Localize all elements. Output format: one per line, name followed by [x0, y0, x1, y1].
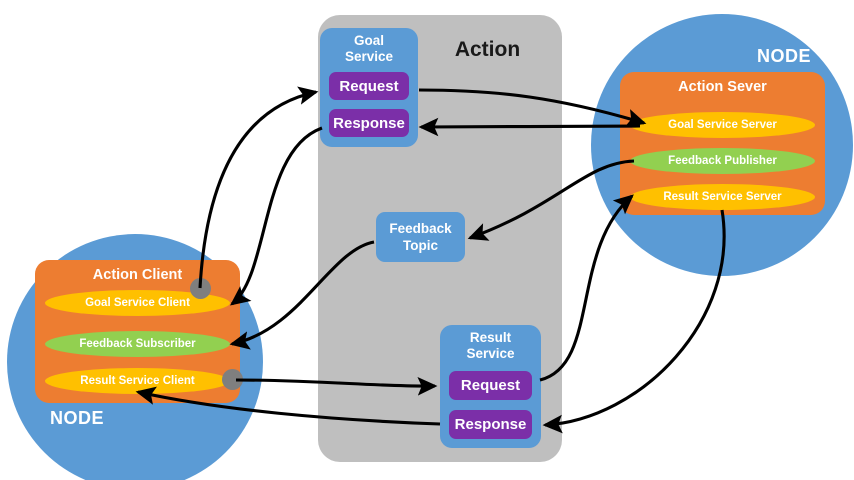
capsule-result-service-server[interactable]: Result Service Server: [630, 184, 815, 210]
action-panel-title: Action: [425, 38, 550, 62]
feedback-topic-line2: Topic: [403, 237, 438, 254]
feedback-topic-box[interactable]: Feedback Topic: [376, 212, 465, 262]
capsule-goal-service-server[interactable]: Goal Service Server: [630, 112, 815, 138]
connector-dot-result-client: [222, 369, 243, 390]
action-client-title: Action Client: [35, 267, 240, 283]
goal-service-title-line2: Service: [345, 49, 393, 64]
server-node-label: NODE: [757, 46, 811, 67]
goal-service-title-line1: Goal: [354, 33, 384, 48]
capsule-feedback-subscriber[interactable]: Feedback Subscriber: [45, 331, 230, 357]
capsule-result-service-client[interactable]: Result Service Client: [45, 368, 230, 394]
connector-dot-goal-client: [190, 278, 211, 299]
capsule-feedback-publisher[interactable]: Feedback Publisher: [630, 148, 815, 174]
feedback-topic-line1: Feedback: [389, 220, 451, 237]
goal-service-title: Goal Service: [320, 33, 418, 65]
diagram-canvas: Action NODE Action Client Goal Service C…: [0, 0, 854, 480]
result-service-response[interactable]: Response: [449, 410, 532, 439]
result-service-title-line1: Result: [470, 330, 511, 345]
result-service-title-line2: Service: [466, 346, 514, 361]
goal-service-response[interactable]: Response: [329, 109, 409, 137]
goal-service-request[interactable]: Request: [329, 72, 409, 100]
arrow-goal-client-to-request: [200, 92, 316, 288]
result-service-box: Result Service Request Response: [440, 325, 541, 448]
arrow-goal-response-to-client: [232, 128, 322, 304]
goal-service-box: Goal Service Request Response: [320, 28, 418, 147]
result-service-request[interactable]: Request: [449, 371, 532, 400]
action-server-title: Action Sever: [620, 79, 825, 95]
client-node-label: NODE: [50, 408, 104, 429]
result-service-title: Result Service: [440, 330, 541, 362]
